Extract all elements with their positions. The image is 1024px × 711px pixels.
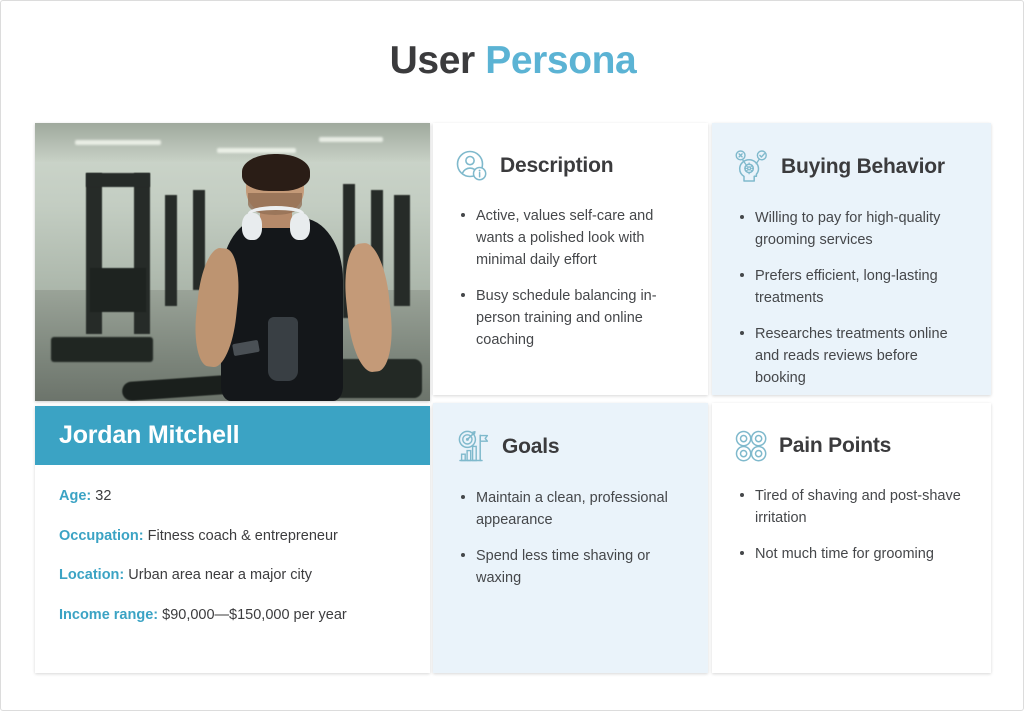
list-item: Not much time for grooming bbox=[738, 543, 969, 565]
four-circles-icon bbox=[734, 429, 768, 463]
buying-behavior-card: Buying Behavior Willing to pay for high-… bbox=[712, 123, 991, 395]
description-card: Description Active, values self-care and… bbox=[433, 123, 708, 395]
page-title: User Persona bbox=[1, 39, 1024, 84]
goals-card-header: Goals bbox=[455, 429, 684, 465]
persona-field-label: Age: bbox=[59, 488, 91, 504]
goals-card-title: Goals bbox=[502, 435, 559, 459]
page-title-main: User bbox=[390, 39, 486, 82]
buying-behavior-card-title: Buying Behavior bbox=[781, 155, 945, 179]
water-bottle bbox=[268, 317, 298, 381]
persona-field-age: Age: 32 bbox=[59, 487, 406, 507]
gym-machine bbox=[394, 195, 410, 306]
headphone-earcup-right bbox=[290, 213, 310, 240]
description-card-title: Description bbox=[500, 154, 613, 178]
persona-field-income-range: Income range: $90,000—$150,000 per year bbox=[59, 606, 406, 626]
persona-name: Jordan Mitchell bbox=[59, 421, 239, 450]
persona-page: User Persona bbox=[0, 0, 1024, 711]
persona-field-label: Occupation: bbox=[59, 528, 144, 544]
person-hair bbox=[242, 154, 309, 191]
persona-photo bbox=[35, 123, 430, 401]
target-growth-icon bbox=[455, 429, 491, 465]
persona-name-banner: Jordan Mitchell bbox=[35, 406, 430, 465]
user-info-icon bbox=[455, 149, 489, 183]
list-item: Researches treatments online and reads r… bbox=[738, 323, 969, 389]
pain-points-card-title: Pain Points bbox=[779, 434, 891, 458]
gym-machine bbox=[165, 195, 177, 306]
list-item: Active, values self-care and wants a pol… bbox=[459, 205, 684, 271]
list-item: Willing to pay for high-quality grooming… bbox=[738, 207, 969, 251]
pain-points-card-header: Pain Points bbox=[734, 429, 969, 463]
persona-fields: Age: 32 Occupation: Fitness coach & entr… bbox=[35, 465, 430, 625]
persona-field-value: 32 bbox=[95, 488, 111, 504]
gym-machine bbox=[90, 268, 145, 312]
list-item: Maintain a clean, professional appearanc… bbox=[459, 487, 684, 531]
person-arm-right bbox=[340, 241, 397, 373]
ceiling-light bbox=[75, 140, 162, 145]
persona-field-label: Location: bbox=[59, 567, 124, 583]
list-item: Spend less time shaving or waxing bbox=[459, 545, 684, 589]
goals-card: Goals Maintain a clean, professional app… bbox=[433, 403, 708, 673]
buying-behavior-bullet-list: Willing to pay for high-quality grooming… bbox=[734, 207, 969, 389]
persona-field-occupation: Occupation: Fitness coach & entrepreneur bbox=[59, 527, 406, 547]
ceiling-light bbox=[319, 137, 382, 142]
head-gear-decision-icon bbox=[734, 149, 770, 185]
buying-behavior-card-header: Buying Behavior bbox=[734, 149, 969, 185]
persona-info-card: Jordan Mitchell Age: 32 Occupation: Fitn… bbox=[35, 406, 430, 673]
pain-points-bullet-list: Tired of shaving and post-shave irritati… bbox=[734, 485, 969, 565]
persona-field-label: Income range: bbox=[59, 607, 158, 623]
pain-points-card: Pain Points Tired of shaving and post-sh… bbox=[712, 403, 991, 673]
ceiling-light bbox=[217, 148, 296, 153]
persona-field-value: Fitness coach & entrepreneur bbox=[148, 528, 338, 544]
persona-field-value: $90,000—$150,000 per year bbox=[162, 607, 347, 623]
gym-bench bbox=[51, 337, 154, 362]
list-item: Tired of shaving and post-shave irritati… bbox=[738, 485, 969, 529]
person-figure bbox=[193, 154, 391, 401]
gym-machine bbox=[86, 173, 149, 187]
list-item: Busy schedule balancing in-person traini… bbox=[459, 285, 684, 351]
persona-field-location: Location: Urban area near a major city bbox=[59, 566, 406, 586]
list-item: Prefers efficient, long-lasting treatmen… bbox=[738, 265, 969, 309]
persona-field-value: Urban area near a major city bbox=[128, 567, 312, 583]
persona-grid: Jordan Mitchell Age: 32 Occupation: Fitn… bbox=[35, 123, 991, 673]
description-bullet-list: Active, values self-care and wants a pol… bbox=[455, 205, 684, 351]
goals-bullet-list: Maintain a clean, professional appearanc… bbox=[455, 487, 684, 589]
headphone-earcup-left bbox=[242, 213, 262, 240]
persona-photo-card bbox=[35, 123, 430, 401]
page-title-accent: Persona bbox=[485, 39, 636, 82]
description-card-header: Description bbox=[455, 149, 684, 183]
